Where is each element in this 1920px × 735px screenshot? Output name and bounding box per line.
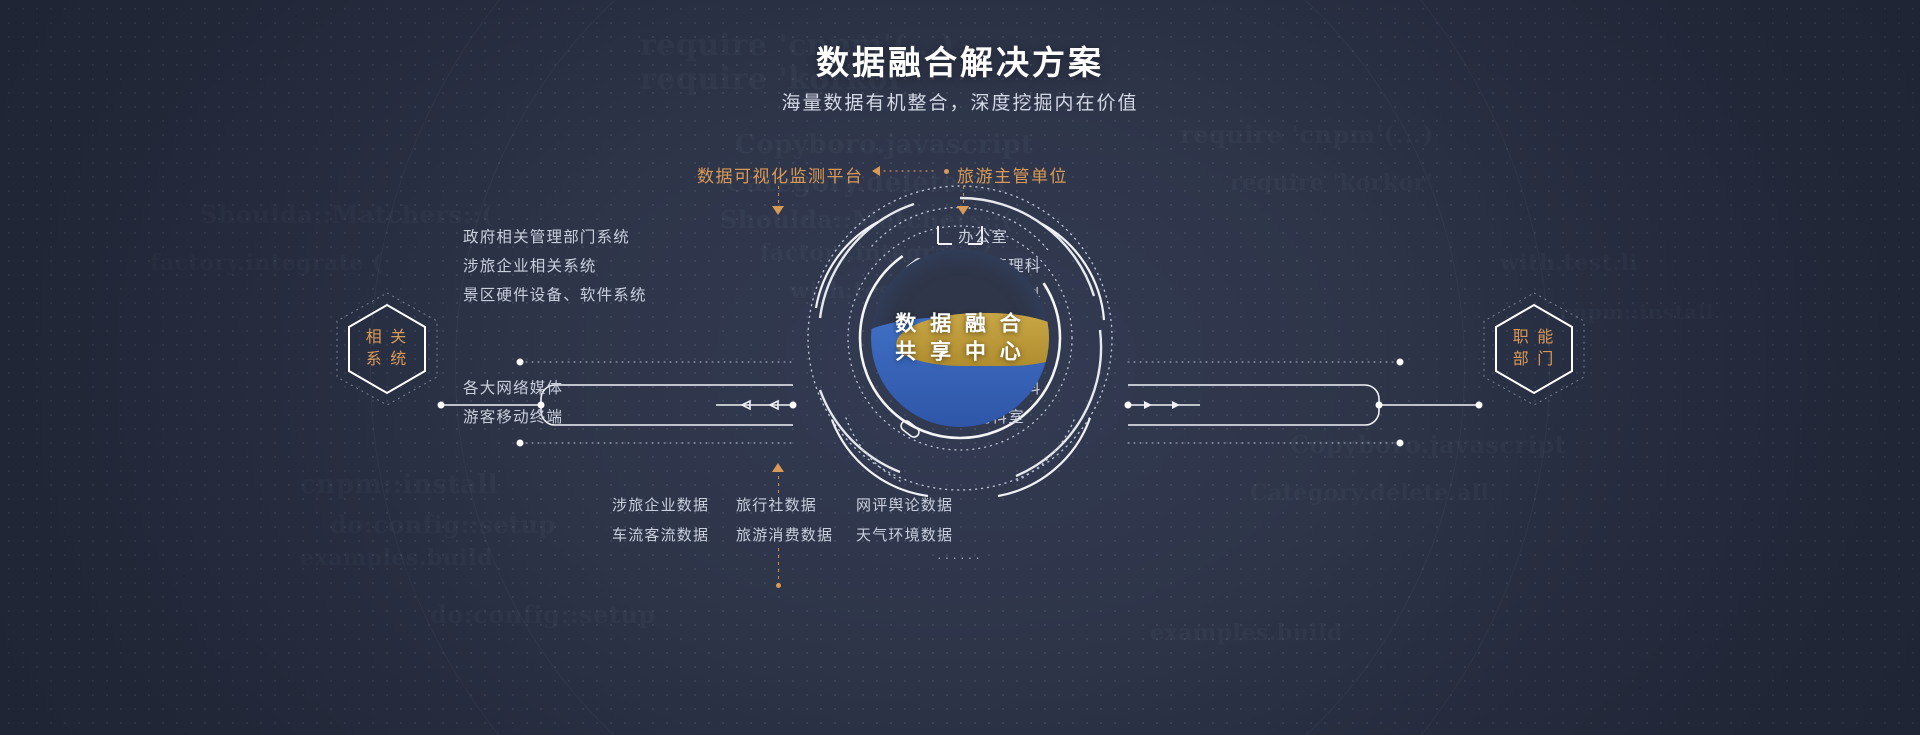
left-flow-arrow-2 xyxy=(742,401,750,409)
left-input-lower-0[interactable]: 各大网络媒体 xyxy=(463,376,563,398)
hex-left-line1: 相 关 xyxy=(366,327,408,349)
left-feeder-node-bottom xyxy=(517,440,524,447)
left-input-1[interactable]: 涉旅企业相关系统 xyxy=(463,254,597,276)
hex-functional-departments[interactable]: 职 能 部 门 xyxy=(1480,290,1588,408)
page-subtitle: 海量数据有机整合，深度挖掘内在价值 xyxy=(0,88,1920,115)
left-input-0[interactable]: 政府相关管理部门系统 xyxy=(463,225,630,247)
right-feeder-node-top xyxy=(1397,359,1404,366)
hex-right-text: 职 能 部 门 xyxy=(1480,290,1588,408)
center-label-line2: 共 享 中 心 xyxy=(895,338,1025,366)
left-feeder-node-top xyxy=(517,359,524,366)
hex-left-text: 相 关 系 统 xyxy=(333,290,441,408)
hex-right-line1: 职 能 xyxy=(1513,327,1555,349)
bottom-ellipsis: ······ xyxy=(0,549,1920,565)
right-feeder-node-bottom xyxy=(1397,440,1404,447)
center-label-line1: 数 据 融 合 xyxy=(895,310,1025,338)
right-bracket-node xyxy=(1376,402,1383,409)
page-title: 数据融合解决方案 xyxy=(0,36,1920,84)
diagram-stage: 数据融合解决方案 海量数据有机整合，深度挖掘内在价值 xyxy=(0,0,1920,735)
left-input-lower-1[interactable]: 游客移动终端 xyxy=(463,405,563,427)
bottom-data-0-0[interactable]: 涉旅企业数据 xyxy=(612,494,709,515)
center-graphic: 数 据 融 合 共 享 中 心 xyxy=(750,128,1170,548)
hex-right-line2: 部 门 xyxy=(1513,349,1555,371)
hex-left-line2: 系 统 xyxy=(366,349,408,371)
left-input-2[interactable]: 景区硬件设备、软件系统 xyxy=(463,283,647,305)
bottom-center-dot xyxy=(776,583,781,588)
right-flow-arrow-2 xyxy=(1172,401,1180,409)
center-label: 数 据 融 合 共 享 中 心 xyxy=(895,310,1025,365)
bottom-data-1-0[interactable]: 车流客流数据 xyxy=(612,524,709,545)
hex-related-systems[interactable]: 相 关 系 统 xyxy=(333,290,441,408)
